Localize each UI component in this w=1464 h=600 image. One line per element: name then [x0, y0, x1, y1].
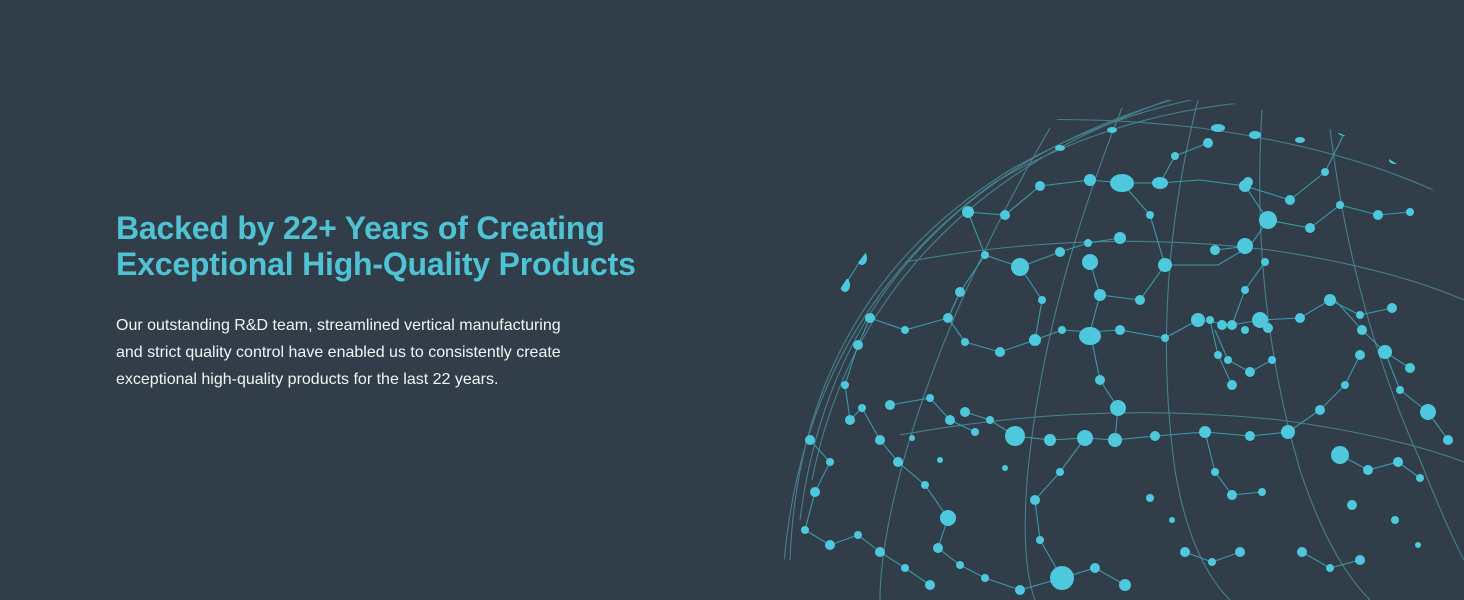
globe-grid-lines — [782, 65, 1464, 600]
globe-connection-lines — [805, 132, 1448, 590]
copy-block: Backed by 22+ Years of Creating Exceptio… — [116, 210, 656, 393]
promo-banner: Backed by 22+ Years of Creating Exceptio… — [0, 0, 1464, 600]
body-paragraph: Our outstanding R&D team, streamlined ve… — [116, 282, 656, 393]
body-line-1: Our outstanding R&D team, streamlined ve… — [116, 312, 656, 339]
body-line-3: exceptional high-quality products for th… — [116, 366, 656, 393]
body-line-2: and strict quality control have enabled … — [116, 339, 656, 366]
globe-network-nodes — [801, 124, 1453, 595]
page-title: Backed by 22+ Years of Creating Exceptio… — [116, 210, 656, 282]
headline-line-2: Exceptional High-Quality Products — [116, 246, 656, 282]
headline-line-1: Backed by 22+ Years of Creating — [116, 210, 656, 246]
